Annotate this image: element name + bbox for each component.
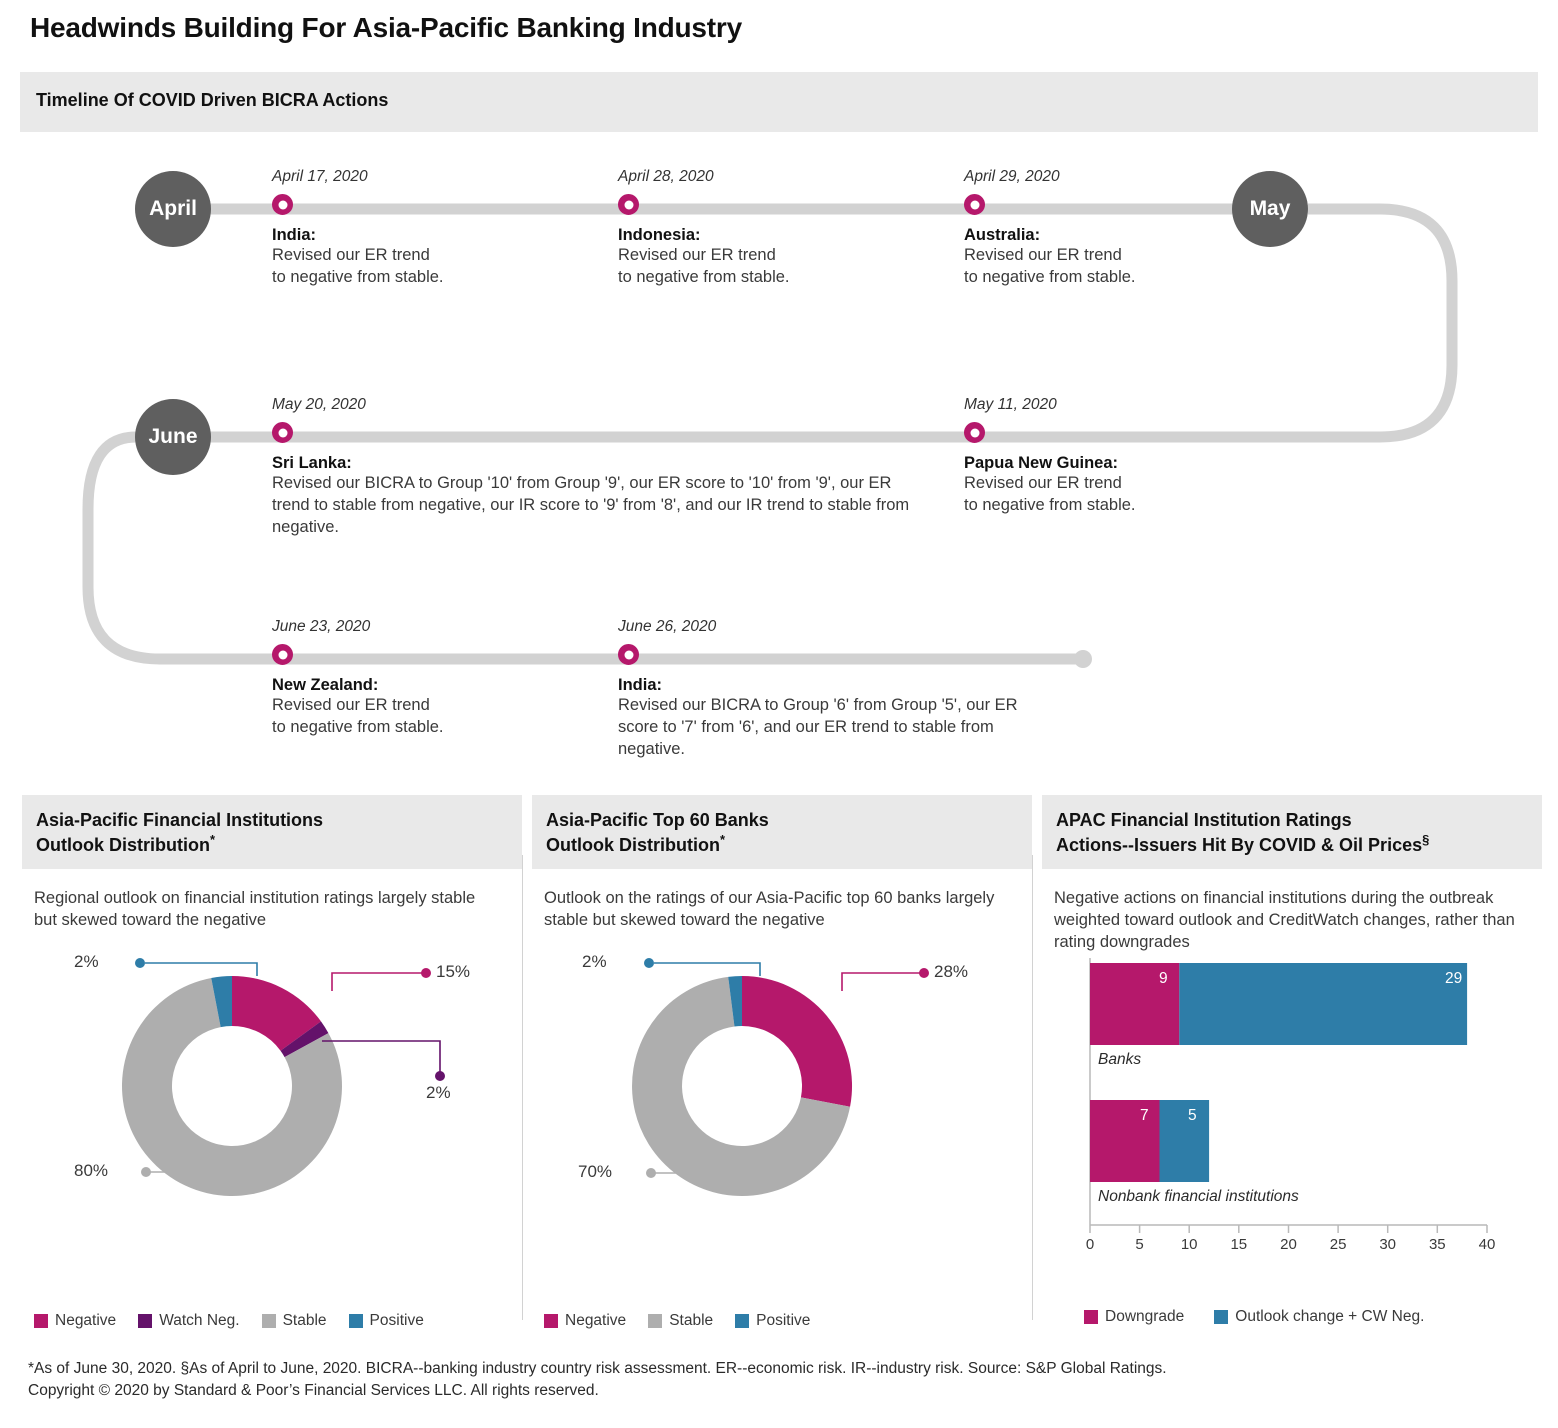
bar-chart-svg: [1042, 953, 1542, 1263]
panel-apac-ratings-actions: APAC Financial Institution Ratings Actio…: [1042, 795, 1542, 1340]
donut-value-watch-neg: 2%: [426, 1083, 451, 1103]
donut-value-stable: 70%: [578, 1162, 612, 1182]
timeline-event-date: May 20, 2020: [272, 396, 932, 414]
donut-leader-dot-negative: [919, 968, 929, 978]
bar-chart-x-ticks: [1090, 1225, 1487, 1233]
section-band-label: Timeline Of COVID Driven BICRA Actions: [36, 90, 388, 111]
donut-leader-dot-watch-neg: [435, 1071, 445, 1081]
bar-chart-ratings-actions: 9 29 7 5 Banks Nonbank financial institu…: [1042, 953, 1542, 1263]
timeline-milestone-dot[interactable]: [272, 644, 293, 665]
donut-value-negative: 15%: [436, 962, 470, 982]
donut-leader-positive: [145, 963, 257, 976]
donut-leader-dot-stable: [646, 1168, 656, 1178]
panel-apac-fi-outlook: Asia-Pacific Financial Institutions Outl…: [22, 795, 522, 1340]
x-tick-label: 30: [1379, 1236, 1396, 1253]
donut-chart-apac-fi: 2% 15% 2% 80%: [22, 931, 522, 1261]
panel-title-footnote-marker: *: [210, 832, 215, 847]
donut-leader-positive: [654, 963, 760, 976]
timeline-event-australia-apr29: April 29, 2020 Australia: Revised our ER…: [964, 168, 1294, 289]
panel-title-line1: APAC Financial Institution Ratings: [1056, 809, 1526, 832]
timeline-event-india-apr17: April 17, 2020 India: Revised our ER tre…: [272, 168, 602, 289]
timeline-event-country: India:: [618, 676, 1018, 695]
donut-leader-dot-positive: [135, 958, 145, 968]
timeline-event-country: India:: [272, 226, 602, 245]
footnote-line-1: *As of June 30, 2020. §As of April to Ju…: [28, 1358, 1528, 1380]
timeline-milestone-dot[interactable]: [964, 194, 985, 215]
page-title: Headwinds Building For Asia-Pacific Bank…: [30, 12, 742, 44]
timeline-event-date: May 11, 2020: [964, 396, 1294, 414]
timeline-month-april: April: [135, 171, 211, 247]
legend-item-watch-neg[interactable]: Watch Neg.: [138, 1312, 239, 1330]
donut-leader-dot-stable: [141, 1167, 151, 1177]
timeline-event-desc: Revised our ER trend to negative from st…: [272, 695, 602, 739]
donut-leader-negative: [842, 973, 920, 991]
bar-value-banks-outlook: 29: [1445, 970, 1462, 988]
legend-label: Negative: [55, 1312, 116, 1330]
donut-value-stable: 80%: [74, 1161, 108, 1181]
x-tick-label: 40: [1479, 1236, 1496, 1253]
legend-item-positive[interactable]: Positive: [735, 1312, 810, 1330]
timeline-milestone-dot[interactable]: [618, 194, 639, 215]
bar-category-nonbank: Nonbank financial institutions: [1098, 1188, 1299, 1206]
bar-value-banks-downgrade: 9: [1159, 970, 1168, 988]
bar-nonbank-downgrade[interactable]: [1090, 1100, 1160, 1182]
legend-swatch-icon: [349, 1314, 363, 1328]
timeline-month-june: June: [135, 399, 211, 475]
timeline-event-date: April 28, 2020: [618, 168, 948, 186]
donut-leader-negative: [332, 973, 422, 991]
timeline-event-srilanka-may20: May 20, 2020 Sri Lanka: Revised our BICR…: [272, 396, 932, 538]
legend-item-outlook-cw[interactable]: Outlook change + CW Neg.: [1214, 1308, 1424, 1326]
timeline-end-dot: [1074, 650, 1092, 668]
legend-label: Stable: [669, 1312, 713, 1330]
bar-nonbank-outlook-cw[interactable]: [1160, 1100, 1210, 1182]
timeline-event-desc: Revised our ER trend to negative from st…: [964, 245, 1294, 289]
timeline-event-country: Sri Lanka:: [272, 454, 932, 473]
timeline-milestone-dot[interactable]: [964, 422, 985, 443]
bar-value-nonbank-downgrade: 7: [1140, 1107, 1149, 1125]
panel-subtitle: Outlook on the ratings of our Asia-Pacif…: [532, 869, 1032, 931]
panel-subtitle: Regional outlook on financial institutio…: [22, 869, 522, 931]
donut-chart-top60-banks: 2% 28% 70%: [532, 931, 1032, 1261]
donut-leader-dot-negative: [421, 968, 431, 978]
timeline-event-date: April 29, 2020: [964, 168, 1294, 186]
timeline-track-left-loop: [88, 437, 300, 659]
footnote-line-2: Copyright © 2020 by Standard & Poor’s Fi…: [28, 1380, 1528, 1402]
timeline: April May June April 17, 2020 India: Rev…: [0, 140, 1558, 795]
timeline-event-country: Indonesia:: [618, 226, 948, 245]
footnotes: *As of June 30, 2020. §As of April to Ju…: [28, 1358, 1528, 1402]
legend-label: Negative: [565, 1312, 626, 1330]
legend-item-negative[interactable]: Negative: [544, 1312, 626, 1330]
legend-item-downgrade[interactable]: Downgrade: [1084, 1308, 1184, 1326]
donut-value-negative: 28%: [934, 962, 968, 982]
legend-item-stable[interactable]: Stable: [648, 1312, 713, 1330]
legend-panel-2: Negative Stable Positive: [544, 1312, 810, 1330]
legend-swatch-icon: [648, 1314, 662, 1328]
panels-row: Asia-Pacific Financial Institutions Outl…: [0, 795, 1558, 1340]
timeline-milestone-dot[interactable]: [272, 194, 293, 215]
panel-title-line1: Asia-Pacific Top 60 Banks: [546, 809, 1016, 832]
legend-label: Stable: [283, 1312, 327, 1330]
timeline-event-date: June 26, 2020: [618, 618, 1018, 636]
timeline-event-desc: Revised our ER trend to negative from st…: [272, 245, 602, 289]
panel-title: Asia-Pacific Financial Institutions Outl…: [22, 795, 522, 869]
timeline-event-country: Australia:: [964, 226, 1294, 245]
legend-swatch-icon: [34, 1314, 48, 1328]
legend-swatch-icon: [1084, 1310, 1098, 1324]
panel-title-line2: Actions--Issuers Hit By COVID & Oil Pric…: [1056, 835, 1422, 855]
legend-label: Downgrade: [1105, 1308, 1184, 1326]
legend-item-positive[interactable]: Positive: [349, 1312, 424, 1330]
panel-divider-2: [1032, 855, 1033, 1320]
bar-banks-outlook-cw[interactable]: [1179, 963, 1467, 1045]
panel-title: APAC Financial Institution Ratings Actio…: [1042, 795, 1542, 869]
legend-label: Outlook change + CW Neg.: [1235, 1308, 1424, 1326]
timeline-event-date: April 17, 2020: [272, 168, 602, 186]
legend-swatch-icon: [262, 1314, 276, 1328]
timeline-event-desc: Revised our BICRA to Group '10' from Gro…: [272, 473, 932, 538]
legend-swatch-icon: [735, 1314, 749, 1328]
legend-label: Positive: [370, 1312, 424, 1330]
panel-title-line2: Outlook Distribution: [546, 835, 720, 855]
x-tick-label: 35: [1429, 1236, 1446, 1253]
bar-value-nonbank-outlook: 5: [1188, 1107, 1197, 1125]
timeline-event-country: Papua New Guinea:: [964, 454, 1294, 473]
timeline-event-png-may11: May 11, 2020 Papua New Guinea: Revised o…: [964, 396, 1294, 517]
legend-item-stable[interactable]: Stable: [262, 1312, 327, 1330]
x-tick-label: 20: [1280, 1236, 1297, 1253]
timeline-event-india-jun26: June 26, 2020 India: Revised our BICRA t…: [618, 618, 1018, 760]
legend-label: Positive: [756, 1312, 810, 1330]
panel-subtitle: Negative actions on financial institutio…: [1042, 869, 1542, 953]
timeline-milestone-dot[interactable]: [272, 422, 293, 443]
legend-swatch-icon: [1214, 1310, 1228, 1324]
donut-slice-negative[interactable]: [742, 976, 852, 1107]
x-tick-label: 0: [1086, 1236, 1094, 1253]
donut-value-positive: 2%: [582, 952, 607, 972]
donut-leader-dot-positive: [644, 958, 654, 968]
panel-title-line2: Outlook Distribution: [36, 835, 210, 855]
timeline-milestone-dot[interactable]: [618, 644, 639, 665]
panel-title: Asia-Pacific Top 60 Banks Outlook Distri…: [532, 795, 1032, 869]
timeline-event-indonesia-apr28: April 28, 2020 Indonesia: Revised our ER…: [618, 168, 948, 289]
legend-swatch-icon: [544, 1314, 558, 1328]
panel-title-footnote-marker: *: [720, 832, 725, 847]
timeline-event-desc: Revised our ER trend to negative from st…: [618, 245, 948, 289]
timeline-event-desc: Revised our BICRA to Group '6' from Grou…: [618, 695, 1018, 760]
bar-category-banks: Banks: [1098, 1051, 1141, 1069]
x-tick-label: 15: [1230, 1236, 1247, 1253]
legend-panel-3: Downgrade Outlook change + CW Neg.: [1084, 1308, 1424, 1326]
panel-title-footnote-marker: §: [1422, 832, 1429, 847]
x-tick-label: 10: [1181, 1236, 1198, 1253]
timeline-event-newzealand-jun23: June 23, 2020 New Zealand: Revised our E…: [272, 618, 602, 739]
timeline-event-date: June 23, 2020: [272, 618, 602, 636]
timeline-event-country: New Zealand:: [272, 676, 602, 695]
timeline-event-desc: Revised our ER trend to negative from st…: [964, 473, 1294, 517]
panel-divider-1: [522, 855, 523, 1320]
x-tick-label: 25: [1330, 1236, 1347, 1253]
x-tick-label: 5: [1135, 1236, 1143, 1253]
legend-label: Watch Neg.: [159, 1312, 239, 1330]
panel-top60-banks-outlook: Asia-Pacific Top 60 Banks Outlook Distri…: [532, 795, 1032, 1340]
legend-item-negative[interactable]: Negative: [34, 1312, 116, 1330]
legend-panel-1: Negative Watch Neg. Stable Positive: [34, 1312, 424, 1330]
legend-swatch-icon: [138, 1314, 152, 1328]
panel-title-line1: Asia-Pacific Financial Institutions: [36, 809, 506, 832]
donut-value-positive: 2%: [74, 952, 99, 972]
